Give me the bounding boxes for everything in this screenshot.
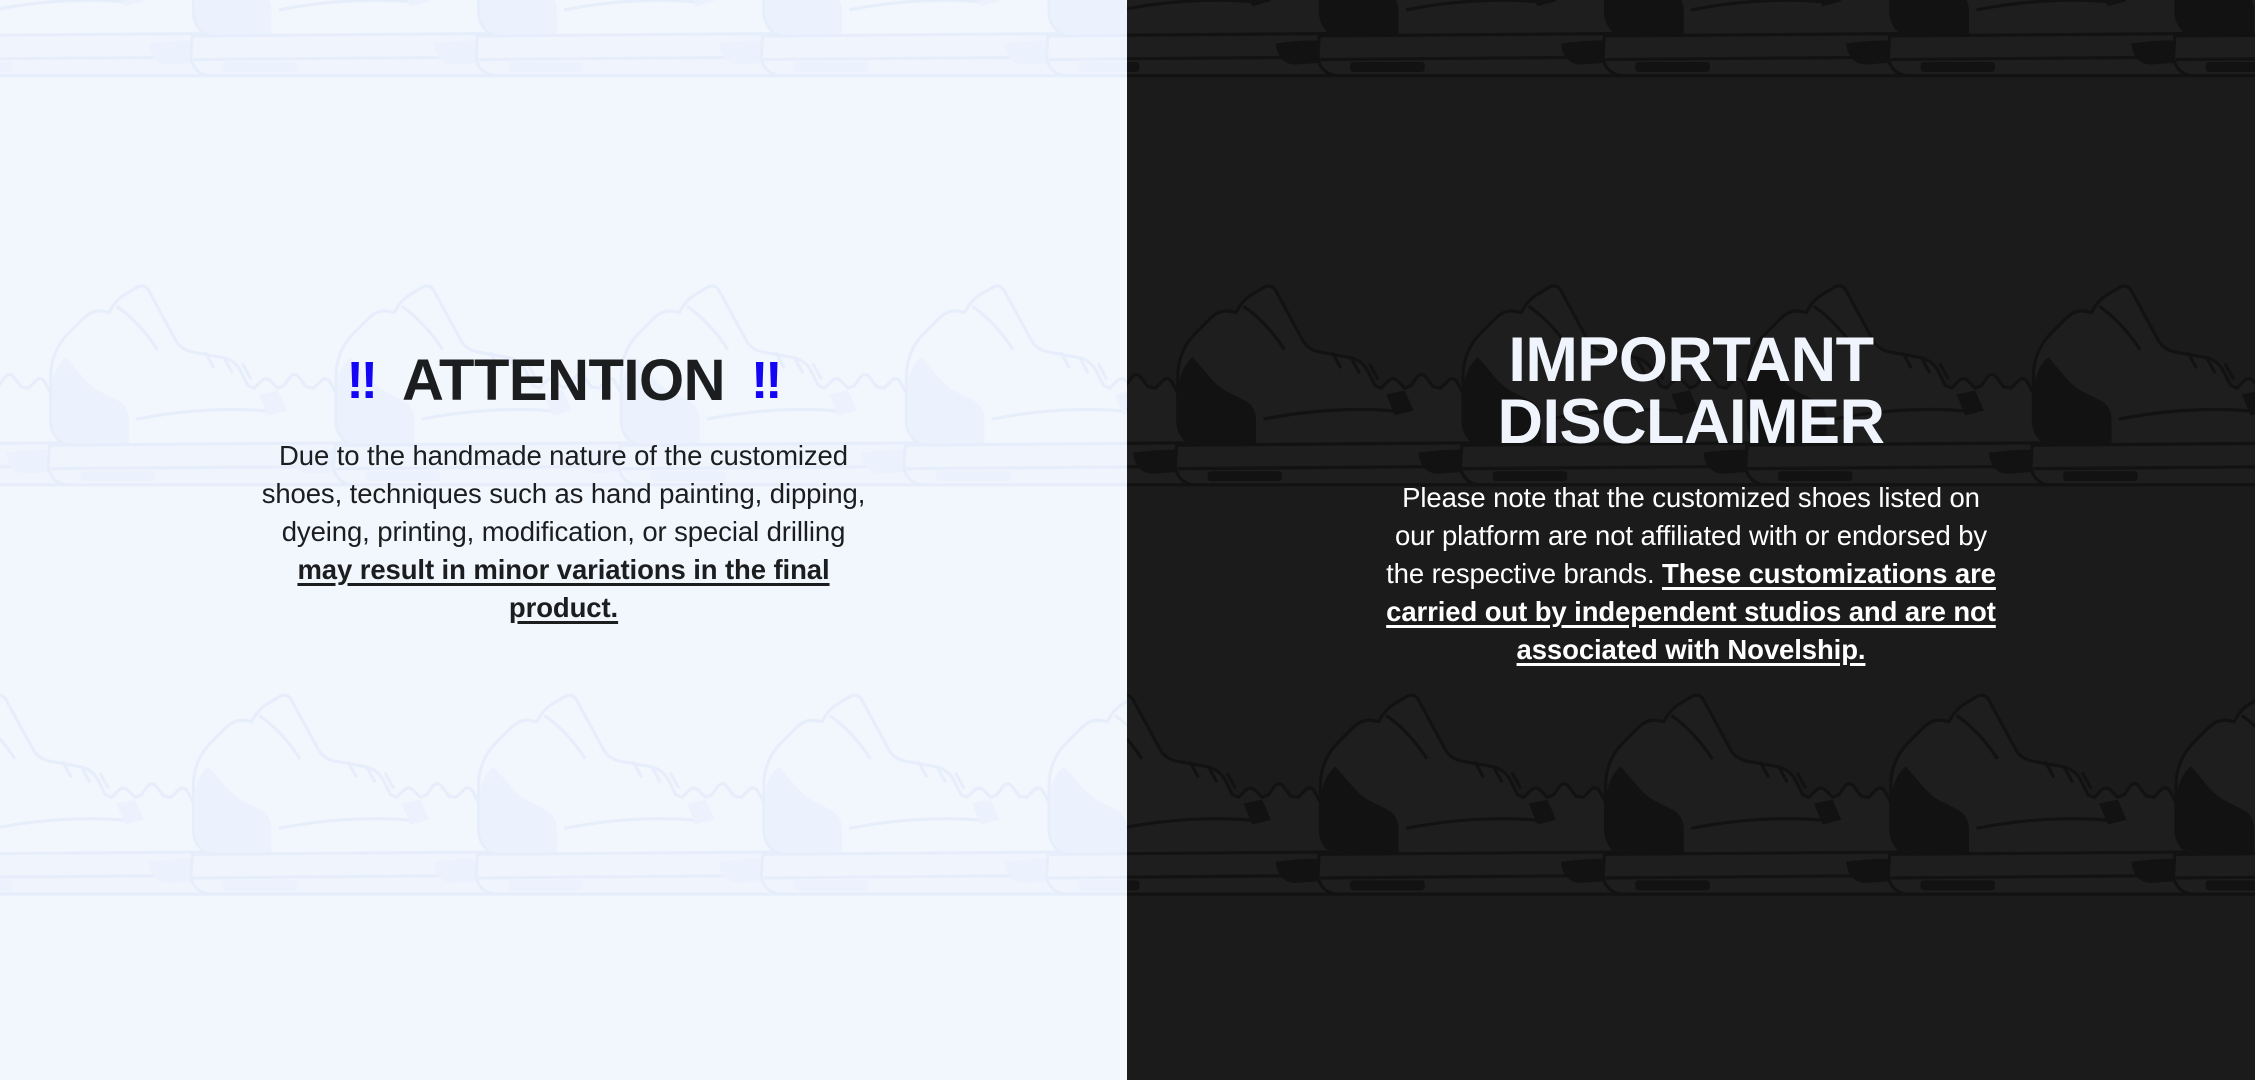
double-exclamation-icon-left: ‼	[347, 355, 376, 407]
attention-heading-label: ATTENTION	[402, 352, 725, 410]
disclaimer-panel: IMPORTANT DISCLAIMER Please note that th…	[1127, 0, 2255, 1080]
disclaimer-banner: ‼ ATTENTION ‼ Due to the handmade nature…	[0, 0, 2255, 1080]
attention-panel: ‼ ATTENTION ‼ Due to the handmade nature…	[0, 0, 1127, 1080]
disclaimer-heading-line-2: DISCLAIMER	[1498, 387, 1885, 457]
attention-body-normal: Due to the handmade nature of the custom…	[262, 440, 866, 547]
disclaimer-heading: IMPORTANT DISCLAIMER	[1341, 330, 2041, 453]
disclaimer-body-text: Please note that the customized shoes li…	[1381, 479, 2001, 669]
attention-body-text: Due to the handmade nature of the custom…	[254, 437, 874, 627]
attention-heading: ‼ ATTENTION ‼	[347, 352, 781, 410]
disclaimer-heading-line-1: IMPORTANT	[1508, 325, 1873, 395]
attention-body-emphasis: may result in minor variations in the fi…	[297, 554, 829, 623]
double-exclamation-icon-right: ‼	[751, 355, 780, 407]
